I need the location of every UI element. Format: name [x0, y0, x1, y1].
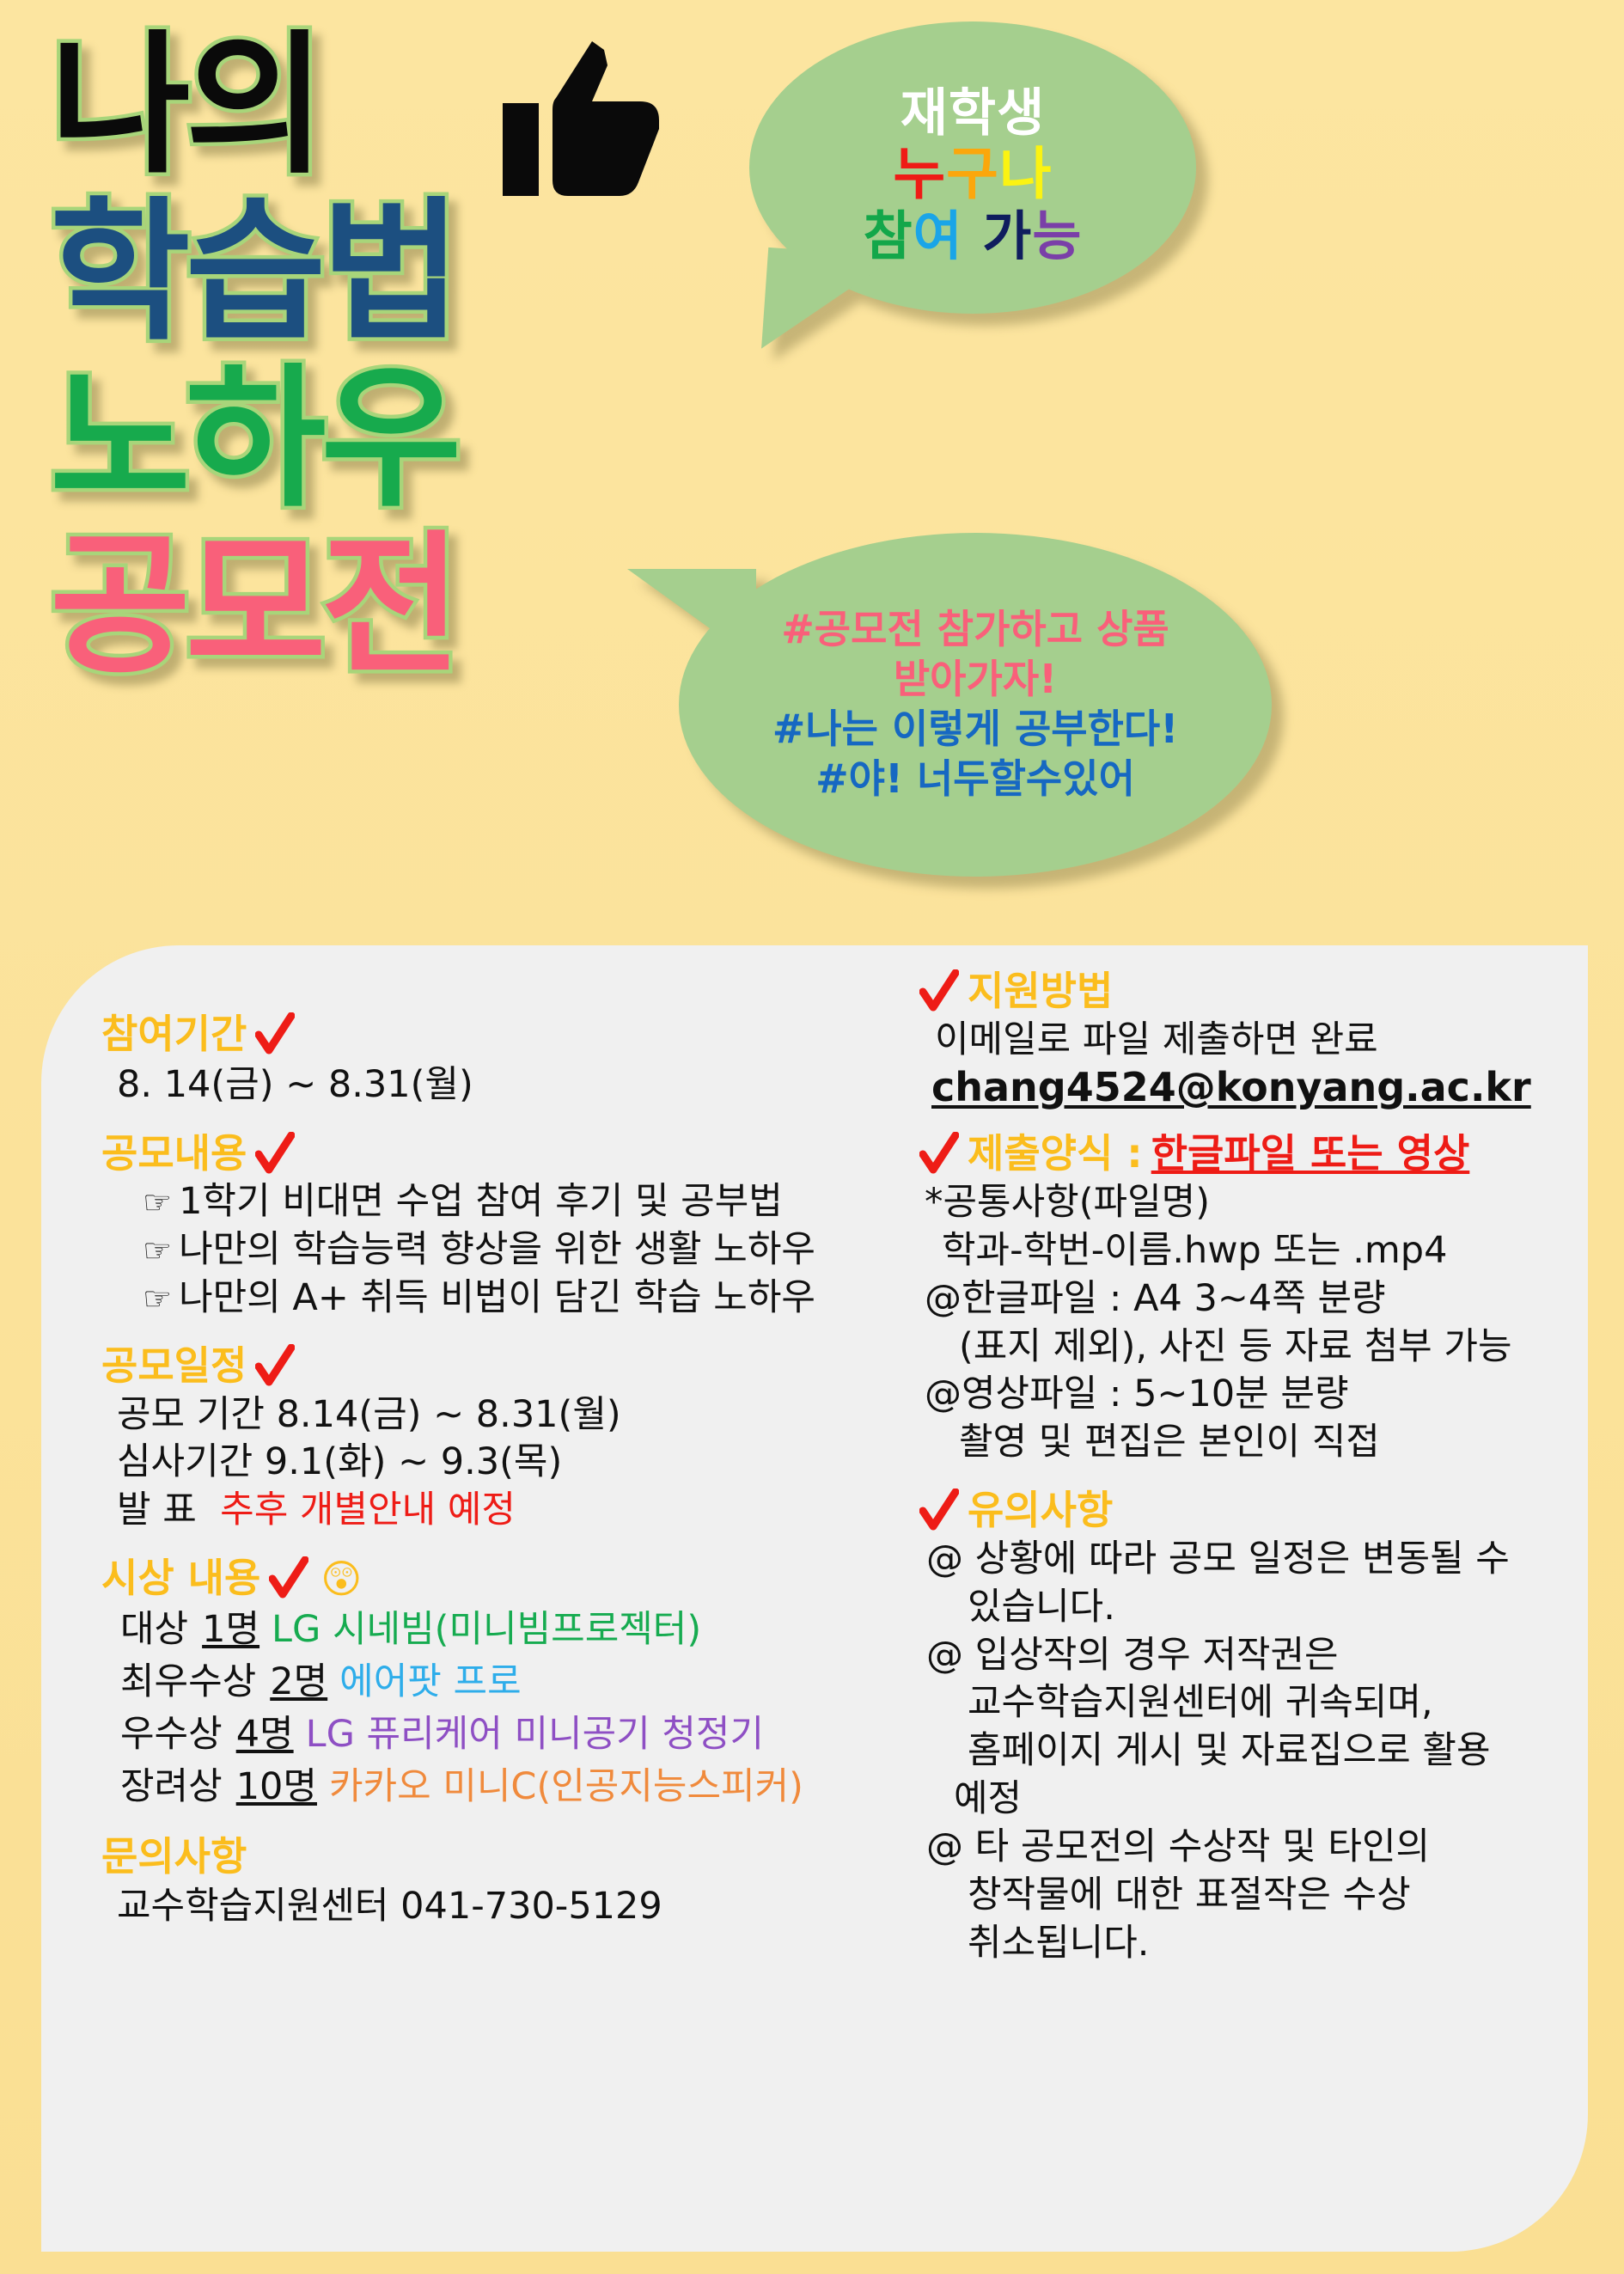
headline-line-3: 노하우 — [50, 363, 456, 516]
pointing-hand-icon: ☞ — [143, 1183, 172, 1221]
bubble2-line-2: 받아가자! — [894, 655, 1057, 705]
section-inquiry: 문의사항 교수학습지원센터 041-730-5129 — [101, 1832, 926, 1933]
bubble1-line-3: 참여 가능 — [864, 206, 1083, 266]
info-column-right: 지원방법 이메일로 파일 제출하면 완료 chang4524@konyang.a… — [919, 967, 1598, 1987]
award-name: 우수상 — [120, 1709, 223, 1761]
award-name: 대상 — [120, 1604, 188, 1656]
section-apply-heading: 지원방법 — [919, 967, 1598, 1017]
section-format: 제출양식 : 한글파일 또는 영상 *공통사항(파일명) 학과-학번-이름.hw… — [919, 1129, 1598, 1467]
pointing-hand-icon: ☞ — [143, 1232, 172, 1269]
notice-line: 교수학습지원센터에 귀속되며, — [919, 1679, 1598, 1727]
contents-item-text: 1학기 비대면 수업 참여 후기 및 공부법 — [179, 1180, 783, 1223]
notice-line: 창작물에 대한 표절작은 수상 — [919, 1872, 1598, 1920]
bubble1-char-yeo: 여 — [913, 205, 963, 267]
award-count: 2명 — [270, 1656, 327, 1709]
section-period: 참여기간 8. 14(금) ~ 8.31(월) — [101, 1010, 926, 1110]
apply-description: 이메일로 파일 제출하면 완료 — [919, 1017, 1598, 1065]
award-prize: 에어팟 프로 — [339, 1656, 521, 1709]
check-icon — [919, 969, 959, 1014]
headline-line-4: 공모전 — [50, 529, 456, 682]
contents-item: ☞1학기 비대면 수업 참여 후기 및 공부법 — [101, 1178, 926, 1226]
bubble1-char-neung: 능 — [1032, 205, 1082, 267]
schedule-announce-value: 추후 개별안내 예정 — [220, 1488, 516, 1531]
notice-line: 있습니다. — [919, 1584, 1598, 1632]
check-icon — [255, 1132, 295, 1177]
award-name: 최우수상 — [120, 1656, 256, 1709]
section-contents: 공모내용 ☞1학기 비대면 수업 참여 후기 및 공부법 ☞나만의 학습능력 향… — [101, 1129, 926, 1323]
contents-item: ☞나만의 학습능력 향상을 위한 생활 노하우 — [101, 1226, 926, 1275]
info-column-left: 참여기간 8. 14(금) ~ 8.31(월) 공모내용 ☞1학기 비대면 수업… — [101, 1010, 926, 1952]
section-awards: 시상 내용 😲 대상 1명 LG 시네빔(미니빔프로젝터) 최우수상 2명 에어… — [101, 1554, 926, 1813]
schedule-announce-label: 발 표 — [117, 1488, 197, 1531]
section-period-heading: 참여기간 — [101, 1010, 926, 1060]
schedule-line-2: 심사기간 9.1(화) ~ 9.3(목) — [101, 1439, 926, 1487]
pointing-hand-icon: ☞ — [143, 1280, 172, 1317]
section-notice: 유의사항 @ 상황에 따라 공모 일정은 변동될 수 있습니다. @ 입상작의 … — [919, 1486, 1598, 1968]
apply-email[interactable]: chang4524@konyang.ac.kr — [919, 1064, 1598, 1110]
award-row: 최우수상 2명 에어팟 프로 — [101, 1656, 926, 1709]
headline-line-2: 학습법 — [50, 196, 456, 349]
format-line-6: 촬영 및 편집은 본인이 직접 — [919, 1419, 1598, 1467]
notice-line: 홈페이지 게시 및 자료집으로 활용 — [919, 1727, 1598, 1776]
bubble1-char-cham: 참 — [864, 205, 913, 267]
notice-line: @ 입상작의 경우 저작권은 — [919, 1632, 1598, 1680]
section-apply-title: 지원방법 — [968, 967, 1113, 1017]
award-prize: LG 퓨리케어 미니공기 청정기 — [306, 1709, 764, 1761]
bubble1-line-2: 누구나 — [893, 143, 1052, 206]
contents-item: ☞나만의 A+ 취득 비법이 담긴 학습 노하우 — [101, 1275, 926, 1323]
headline-row-3: 노하우 — [50, 363, 746, 516]
award-prize: 카카오 미니C(인공지능스피커) — [329, 1761, 803, 1813]
bubble2-line-1: #공모전 참가하고 상품 — [781, 605, 1169, 655]
check-icon — [919, 1132, 959, 1177]
speech-bubble-hashtags: #공모전 참가하고 상품 받아가자! #나는 이렇게 공부한다! #야! 너두할… — [679, 533, 1272, 877]
section-contents-heading: 공모내용 — [101, 1129, 926, 1179]
award-prize: LG 시네빔(미니빔프로젝터) — [272, 1604, 701, 1656]
notice-line: 예정 — [919, 1776, 1598, 1824]
section-awards-title: 시상 내용 — [101, 1554, 260, 1604]
headline-row-2: 학습법 — [50, 196, 746, 349]
award-count: 1명 — [202, 1604, 259, 1656]
section-contents-title: 공모내용 — [101, 1129, 247, 1179]
format-line-1: *공통사항(파일명) — [919, 1179, 1598, 1227]
contents-item-text: 나만의 학습능력 향상을 위한 생활 노하우 — [179, 1228, 815, 1271]
section-period-title: 참여기간 — [101, 1010, 247, 1060]
bubble2-line-4: #야! 너두할수있어 — [815, 755, 1135, 804]
format-line-5: @영상파일 : 5~10분 분량 — [919, 1371, 1598, 1419]
section-schedule: 공모일정 공모 기간 8.14(금) ~ 8.31(월) 심사기간 9.1(화)… — [101, 1342, 926, 1535]
award-count: 4명 — [236, 1709, 294, 1761]
notice-line: 취소됩니다. — [919, 1920, 1598, 1968]
award-count: 10명 — [236, 1761, 317, 1813]
speech-bubble-eligibility: 재학생 누구나 참여 가능 — [749, 21, 1196, 314]
thumbs-up-icon — [503, 36, 675, 199]
bubble1-char-nu: 누 — [893, 141, 946, 207]
award-row: 우수상 4명 LG 퓨리케어 미니공기 청정기 — [101, 1709, 926, 1761]
schedule-line-3: 발 표 추후 개별안내 예정 — [101, 1487, 926, 1535]
check-icon — [269, 1556, 308, 1601]
format-line-4: (표지 제외), 사진 등 자료 첨부 가능 — [919, 1323, 1598, 1372]
check-icon — [255, 1344, 295, 1389]
section-format-title-label: 제출양식 : — [968, 1129, 1143, 1179]
section-schedule-heading: 공모일정 — [101, 1342, 926, 1391]
award-row: 장려상 10명 카카오 미니C(인공지능스피커) — [101, 1761, 926, 1813]
astonished-face-emoji: 😲 — [321, 1559, 362, 1599]
contents-item-text: 나만의 A+ 취득 비법이 담긴 학습 노하우 — [179, 1276, 815, 1319]
check-icon — [255, 1012, 295, 1057]
notice-line: @ 타 공모전의 수상작 및 타인의 — [919, 1824, 1598, 1872]
schedule-line-1: 공모 기간 8.14(금) ~ 8.31(월) — [101, 1391, 926, 1440]
section-period-value: 8. 14(금) ~ 8.31(월) — [101, 1060, 926, 1110]
section-format-title-value: 한글파일 또는 영상 — [1151, 1129, 1470, 1179]
section-inquiry-value: 교수학습지원센터 041-730-5129 — [101, 1881, 926, 1932]
section-awards-heading: 시상 내용 😲 — [101, 1554, 926, 1604]
bubble1-char-gu: 구 — [946, 141, 999, 207]
notice-line: @ 상황에 따라 공모 일정은 변동될 수 — [919, 1536, 1598, 1584]
format-line-3: @한글파일 : A4 3~4쪽 분량 — [919, 1275, 1598, 1323]
bubble2-line-3: #나는 이렇게 공부한다! — [772, 705, 1178, 755]
section-format-heading: 제출양식 : 한글파일 또는 영상 — [919, 1129, 1598, 1179]
format-line-2: 학과-학번-이름.hwp 또는 .mp4 — [919, 1227, 1598, 1275]
section-apply: 지원방법 이메일로 파일 제출하면 완료 chang4524@konyang.a… — [919, 967, 1598, 1110]
check-icon — [919, 1488, 959, 1533]
section-notice-title: 유의사항 — [968, 1486, 1113, 1536]
bubble1-char-na: 나 — [999, 141, 1053, 207]
award-row: 대상 1명 LG 시네빔(미니빔프로젝터) — [101, 1604, 926, 1656]
headline-line-1: 나의 — [50, 29, 321, 182]
bubble1-line-1: 재학생 — [901, 85, 1046, 143]
section-inquiry-title: 문의사항 — [101, 1832, 247, 1882]
section-schedule-title: 공모일정 — [101, 1342, 247, 1391]
bubble1-char-ga: 가 — [982, 205, 1032, 267]
section-inquiry-heading: 문의사항 — [101, 1832, 926, 1882]
section-notice-heading: 유의사항 — [919, 1486, 1598, 1536]
poster-root: 나의 학습법 노하우 공모전 재학생 누구나 참여 가능 #공모전 참가하고 상… — [0, 0, 1624, 2274]
award-name: 장려상 — [120, 1761, 223, 1813]
